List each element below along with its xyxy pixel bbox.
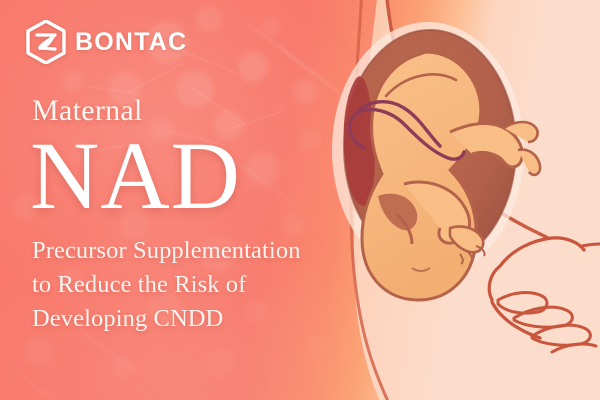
headline-block: Maternal NAD Precursor Supplementation t… [30,96,380,336]
bontac-hexagon-leaf-logo-icon [26,20,66,64]
headline-hero: NAD [30,132,380,220]
subtitle-line-2: to Reduce the Risk of [32,268,380,302]
subtitle-line-1: Precursor Supplementation [32,234,380,268]
bontac-wordmark: BONTAC [75,30,187,55]
subtitle-line-3: Developing CNDD [32,302,380,336]
bontac-logo[interactable]: BONTAC [26,20,187,64]
banner-root: BONTAC Maternal NAD Precursor Supplement… [0,0,600,400]
headline-subtitle: Precursor Supplementation to Reduce the … [32,234,380,335]
